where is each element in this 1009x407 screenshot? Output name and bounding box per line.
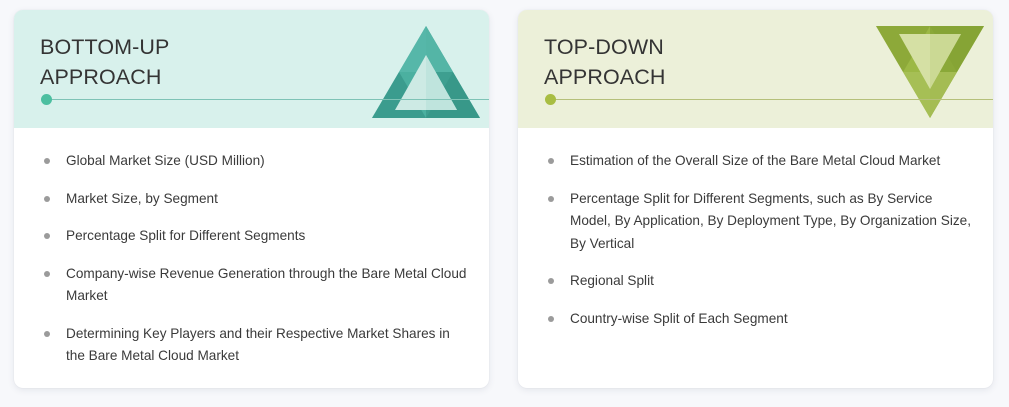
list-item-label: Percentage Split for Different Segments	[66, 228, 305, 243]
approach-comparison-board: BOTTOM-UP APPROACH Global Market Size (U…	[0, 0, 1009, 407]
list-item: Company-wise Revenue Generation through …	[38, 263, 467, 308]
header-rule-line	[550, 99, 993, 100]
bullet-dot-icon	[548, 196, 554, 202]
bullet-dot-icon	[548, 316, 554, 322]
list-item-label: Determining Key Players and their Respec…	[66, 326, 450, 364]
header-rule-top-down	[545, 94, 993, 105]
list-item-label: Regional Split	[570, 273, 654, 288]
bullet-list-top-down: Estimation of the Overall Size of the Ba…	[542, 150, 971, 330]
header-rule-line	[46, 99, 489, 100]
list-item: Estimation of the Overall Size of the Ba…	[542, 150, 971, 173]
list-item-label: Global Market Size (USD Million)	[66, 153, 265, 168]
list-item-label: Market Size, by Segment	[66, 191, 218, 206]
list-item-label: Country-wise Split of Each Segment	[570, 311, 788, 326]
list-item: Percentage Split for Different Segments	[38, 225, 467, 248]
list-item: Country-wise Split of Each Segment	[542, 308, 971, 331]
bullet-dot-icon	[548, 158, 554, 164]
card-body-bottom-up: Global Market Size (USD Million) Market …	[14, 128, 489, 388]
header-rule-dot	[545, 94, 556, 105]
card-top-down-approach: TOP-DOWN APPROACH Estimation of the Over…	[518, 10, 993, 388]
card-bottom-up-approach: BOTTOM-UP APPROACH Global Market Size (U…	[14, 10, 489, 388]
list-item: Global Market Size (USD Million)	[38, 150, 467, 173]
list-item-label: Company-wise Revenue Generation through …	[66, 266, 467, 304]
list-item-label: Estimation of the Overall Size of the Ba…	[570, 153, 940, 168]
list-item: Market Size, by Segment	[38, 188, 467, 211]
bullet-dot-icon	[548, 278, 554, 284]
header-rule-bottom-up	[41, 94, 489, 105]
bullet-dot-icon	[44, 158, 50, 164]
bullet-dot-icon	[44, 196, 50, 202]
list-item: Determining Key Players and their Respec…	[38, 323, 467, 368]
card-header-top-down: TOP-DOWN APPROACH	[518, 10, 993, 128]
card-title-top-down: TOP-DOWN APPROACH	[544, 32, 993, 92]
bullet-list-bottom-up: Global Market Size (USD Million) Market …	[38, 150, 467, 368]
bullet-dot-icon	[44, 233, 50, 239]
header-rule-dot	[41, 94, 52, 105]
list-item: Percentage Split for Different Segments,…	[542, 188, 971, 256]
card-title-bottom-up: BOTTOM-UP APPROACH	[40, 32, 489, 92]
list-item-label: Percentage Split for Different Segments,…	[570, 191, 971, 251]
list-item: Regional Split	[542, 270, 971, 293]
bullet-dot-icon	[44, 271, 50, 277]
card-header-bottom-up: BOTTOM-UP APPROACH	[14, 10, 489, 128]
bullet-dot-icon	[44, 331, 50, 337]
card-body-top-down: Estimation of the Overall Size of the Ba…	[518, 128, 993, 388]
